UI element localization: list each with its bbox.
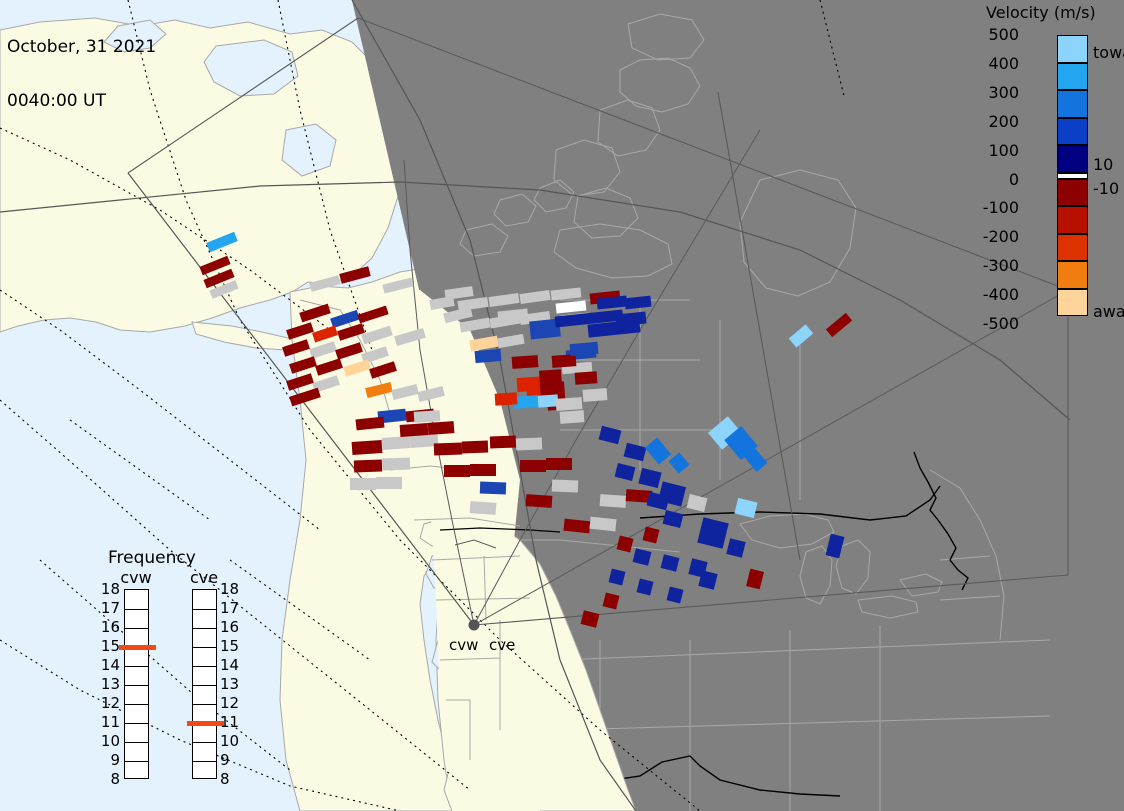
frequency-tick-label: 8	[220, 772, 246, 787]
frequency-gridline	[193, 666, 216, 667]
frequency-tick-label: 9	[220, 753, 246, 768]
timestamp-time: 0040:00 UT	[7, 92, 156, 110]
frequency-tick-label: 10	[94, 734, 120, 749]
colorbar-tick-label: 100	[959, 143, 1019, 159]
radar-map-figure: October, 31 2021 0040:00 UT cvw cve Velo…	[0, 0, 1124, 811]
frequency-tick-label: 9	[94, 753, 120, 768]
frequency-tick-label: 14	[94, 658, 120, 673]
colorbar-tick-label: -300	[959, 258, 1019, 274]
frequency-marker	[119, 645, 156, 650]
colorbar-tick-label: 400	[959, 56, 1019, 72]
frequency-marker	[187, 721, 224, 726]
frequency-gridline	[193, 685, 216, 686]
frequency-gridline	[193, 704, 216, 705]
frequency-gridline	[193, 609, 216, 610]
frequency-gridline	[125, 742, 148, 743]
velocity-colorbar: Velocity (m/s) 5004003002001000-100-200-…	[986, 0, 1124, 340]
frequency-tick-label: 17	[220, 601, 246, 616]
colorbar-segment-away	[1057, 261, 1088, 289]
frequency-gridline	[193, 647, 216, 648]
colorbar-segment-away	[1057, 289, 1088, 317]
frequency-tick-label: 10	[220, 734, 246, 749]
colorbar-segment-away	[1057, 206, 1088, 234]
frequency-gridline	[125, 704, 148, 705]
frequency-gridline	[125, 628, 148, 629]
site-label-cve: cve	[489, 636, 515, 654]
colorbar-tick-label: -200	[959, 229, 1019, 245]
frequency-panel-label: cvw	[116, 568, 156, 587]
frequency-gridline	[193, 628, 216, 629]
frequency-tick-label: 16	[94, 620, 120, 635]
colorbar-segment-toward	[1057, 118, 1088, 146]
colorbar-positive-threshold-label: 10	[1093, 157, 1113, 173]
colorbar-title: Velocity (m/s)	[986, 3, 1124, 22]
timestamp-date: October, 31 2021	[7, 38, 156, 56]
frequency-tick-label: 18	[94, 582, 120, 597]
frequency-gridline	[193, 742, 216, 743]
frequency-panel-label: cve	[184, 568, 224, 587]
frequency-tick-label: 12	[94, 696, 120, 711]
frequency-tick-label: 18	[220, 582, 246, 597]
colorbar-tick-label: 0	[959, 172, 1019, 188]
timestamp-block: October, 31 2021 0040:00 UT	[7, 2, 156, 146]
frequency-tick-label: 13	[94, 677, 120, 692]
frequency-gridline	[125, 723, 148, 724]
radar-site-marker	[469, 620, 480, 631]
frequency-gridline	[125, 761, 148, 762]
frequency-gridline	[125, 666, 148, 667]
frequency-tick-label: 11	[220, 715, 246, 730]
colorbar-away-label: away	[1093, 304, 1124, 320]
colorbar-segment-toward	[1057, 35, 1088, 63]
frequency-scale-box	[192, 589, 217, 779]
colorbar-negative-threshold-label: -10	[1093, 181, 1119, 197]
frequency-panels: Frequency cvw18171615141312111098 cve181…	[78, 548, 248, 798]
frequency-tick-label: 14	[220, 658, 246, 673]
colorbar-segment-toward	[1057, 90, 1088, 118]
frequency-tick-label: 11	[94, 715, 120, 730]
colorbar-segment-away	[1057, 179, 1088, 207]
frequency-tick-label: 15	[94, 639, 120, 654]
frequency-gridline	[193, 761, 216, 762]
frequency-title: Frequency	[108, 548, 196, 568]
site-label-cvw: cvw	[449, 636, 478, 654]
frequency-scale-box	[124, 589, 149, 779]
colorbar-tick-label: 500	[959, 27, 1019, 43]
colorbar-segment-toward	[1057, 145, 1088, 173]
colorbar-segment-away	[1057, 234, 1088, 262]
frequency-tick-label: 17	[94, 601, 120, 616]
colorbar-tick-label: -500	[959, 316, 1019, 332]
colorbar-tick-label: -100	[959, 200, 1019, 216]
frequency-gridline	[125, 609, 148, 610]
frequency-tick-label: 16	[220, 620, 246, 635]
frequency-tick-label: 8	[94, 772, 120, 787]
colorbar-swatches	[1057, 35, 1088, 324]
colorbar-tick-label: -400	[959, 287, 1019, 303]
colorbar-tick-label: 200	[959, 114, 1019, 130]
colorbar-tick-label: 300	[959, 85, 1019, 101]
frequency-tick-label: 15	[220, 639, 246, 654]
frequency-tick-label: 13	[220, 677, 246, 692]
frequency-tick-label: 12	[220, 696, 246, 711]
frequency-gridline	[125, 685, 148, 686]
colorbar-toward-label: toward	[1093, 45, 1124, 61]
colorbar-segment-toward	[1057, 63, 1088, 91]
